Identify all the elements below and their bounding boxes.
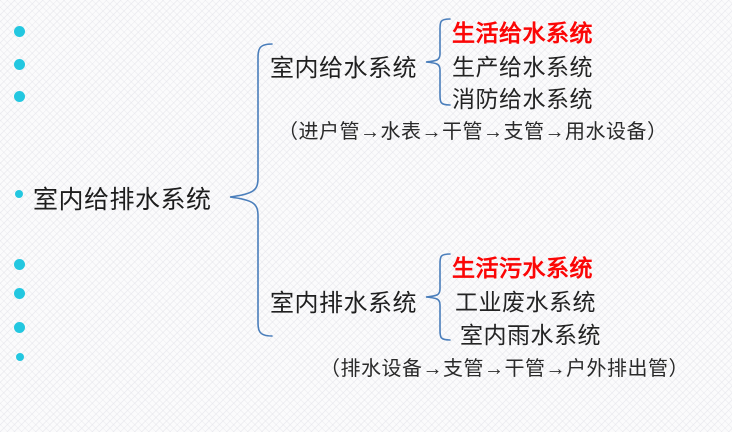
bullet-point-5 — [14, 288, 25, 299]
bullet-point-3 — [14, 91, 25, 102]
root-brace-icon — [228, 40, 274, 340]
bullet-point-2 — [14, 59, 25, 70]
leaf-production-water-supply: 生产给水系统 — [452, 48, 593, 82]
bullet-point-7 — [16, 353, 24, 361]
leaf-domestic-sewage: 生活污水系统 — [452, 249, 593, 283]
leaf-industrial-wastewater: 工业废水系统 — [455, 283, 596, 317]
leaf-fire-water-supply: 消防给水系统 — [452, 80, 593, 114]
water-supply-flow-text: （进户管→水表→干管→支管→用水设备） — [278, 115, 668, 144]
root-node-label: 室内给排水系统 — [33, 180, 212, 216]
bullet-point-6 — [14, 322, 25, 333]
bullet-point-1 — [14, 26, 25, 37]
bullet-point-4 — [14, 259, 25, 270]
root-node-bullet-icon — [15, 190, 23, 198]
branch-label-water-supply: 室内给水系统 — [270, 48, 417, 83]
water-supply-brace-icon — [424, 16, 452, 108]
drainage-flow-text: （排水设备→支管→干管→户外排出管） — [320, 352, 689, 381]
leaf-indoor-stormwater: 室内雨水系统 — [460, 316, 601, 350]
slide-canvas: 室内给排水系统 室内给水系统 生活给水系统 生产给水系统 消防给水系统 （进户管… — [0, 0, 732, 432]
branch-label-drainage: 室内排水系统 — [270, 283, 417, 318]
drainage-brace-icon — [424, 251, 452, 343]
leaf-domestic-water-supply: 生活给水系统 — [452, 14, 593, 48]
